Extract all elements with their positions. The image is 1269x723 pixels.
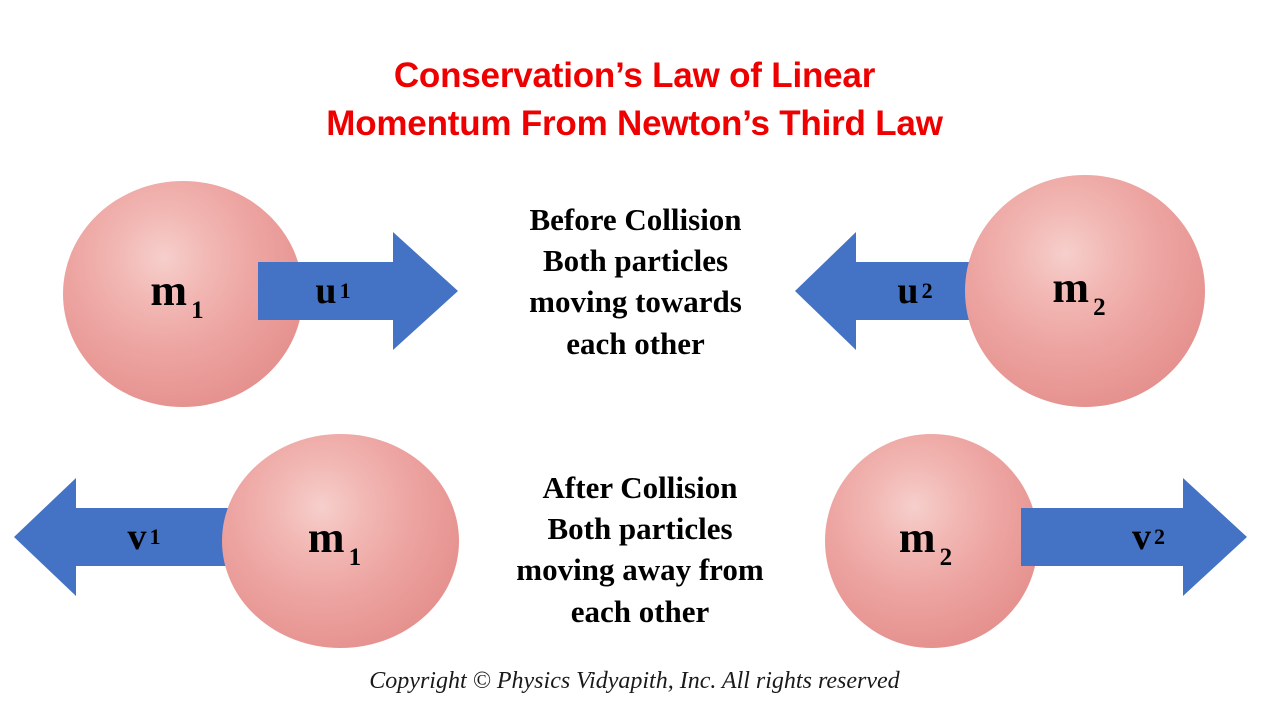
particle-subscript: 2	[936, 544, 953, 571]
caption-line-2: Both particles	[460, 508, 820, 549]
title-line-1: Conservation’s Law of Linear	[0, 52, 1269, 100]
before-right-particle: m2	[965, 175, 1205, 407]
after-left-particle: m1	[222, 434, 459, 648]
particle-symbol: m	[1052, 263, 1089, 312]
arrow-right-icon	[1021, 478, 1247, 596]
after-right-particle-label: m2	[899, 516, 952, 570]
after-collision-caption: After Collision Both particles moving aw…	[460, 467, 820, 632]
particle-subscript: 1	[187, 297, 204, 324]
arrow-left-icon	[795, 232, 983, 350]
caption-line-4: each other	[463, 323, 808, 364]
caption-line-2: Both particles	[463, 240, 808, 281]
caption-line-1: After Collision	[460, 467, 820, 508]
copyright-footer: Copyright © Physics Vidyapith, Inc. All …	[0, 668, 1269, 695]
after-left-particle-label: m1	[308, 516, 361, 570]
particle-symbol: m	[899, 513, 936, 562]
caption-line-3: moving towards	[463, 281, 808, 322]
before-left-particle-label: m1	[150, 269, 203, 323]
after-right-particle: m2	[825, 434, 1038, 648]
before-collision-caption: Before Collision Both particles moving t…	[463, 199, 808, 364]
page-title: Conservation’s Law of Linear Momentum Fr…	[0, 52, 1269, 147]
after-left-velocity-arrow: v1	[14, 478, 238, 596]
caption-line-4: each other	[460, 591, 820, 632]
arrow-left-icon	[14, 478, 238, 596]
arrow-right-icon	[258, 232, 458, 350]
particle-subscript: 1	[345, 544, 362, 571]
diagram-canvas: Conservation’s Law of Linear Momentum Fr…	[0, 0, 1269, 723]
after-right-velocity-arrow: v2	[1021, 478, 1247, 596]
particle-subscript: 2	[1089, 294, 1106, 321]
before-right-velocity-arrow: u2	[795, 232, 983, 350]
particle-symbol: m	[150, 266, 187, 315]
caption-line-1: Before Collision	[463, 199, 808, 240]
particle-symbol: m	[308, 513, 345, 562]
caption-line-3: moving away from	[460, 549, 820, 590]
before-right-particle-label: m2	[1052, 266, 1105, 320]
before-left-velocity-arrow: u1	[258, 232, 458, 350]
title-line-2: Momentum From Newton’s Third Law	[0, 100, 1269, 148]
